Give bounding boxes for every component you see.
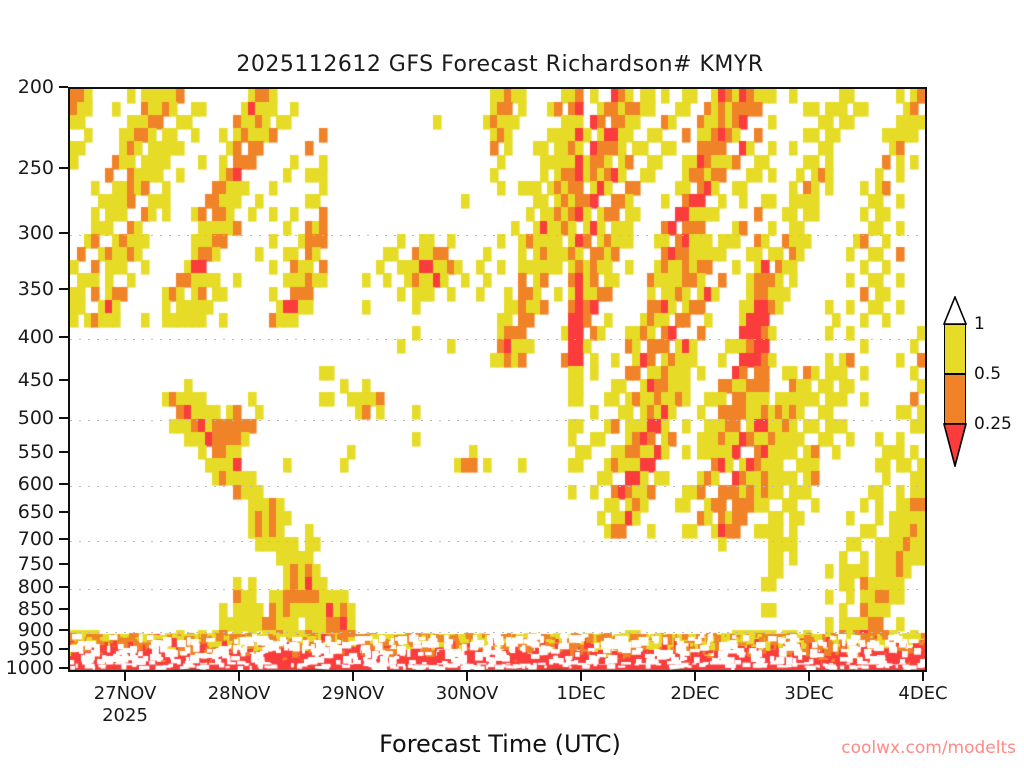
y-tick-label: 550 [18,441,54,463]
y-tick-mark [59,511,68,513]
colorbar-band-1 [944,374,966,424]
y-tick-label: 850 [18,598,54,620]
y-tick-label: 750 [18,553,54,575]
y-tick-mark [59,629,68,631]
y-tick-mark [59,563,68,565]
x-tick-label: 3DEC [784,683,833,704]
x-tick-mark [694,672,696,681]
x-tick-label: 29NOV [322,683,385,704]
x-tick-mark [922,672,924,681]
x-tick-label: 28NOV [208,683,271,704]
plot-area [68,87,927,672]
y-tick-mark [59,288,68,290]
y-tick-mark [59,379,68,381]
x-tick-mark [238,672,240,681]
y-tick-label: 400 [18,326,54,348]
y-tick-label: 200 [18,76,54,98]
page-title: 2025112612 GFS Forecast Richardson# KMYR [0,52,1000,77]
gridline [70,670,925,671]
y-tick-label: 1000 [6,657,54,679]
x-tick-mark [352,672,354,681]
x-tick-label: 4DEC [898,683,947,704]
y-tick-mark [59,167,68,169]
watermark: coolwx.com/modelts [841,738,1016,758]
richardson-heatmap [70,89,925,670]
y-tick-mark [59,667,68,669]
richardson-number-colorbar: 10.50.25 [938,296,972,464]
x-tick-mark [808,672,810,681]
x-tick-mark [466,672,468,681]
x-axis: 27NOV202528NOV29NOV30NOV1DEC2DEC3DEC4DEC [68,672,927,732]
y-tick-mark [59,417,68,419]
y-tick-mark [59,232,68,234]
y-axis: 2002503003504004505005506006507007508008… [0,87,68,672]
colorbar-arrow-bottom-icon [938,423,972,467]
y-tick-label: 700 [18,528,54,550]
y-tick-label: 250 [18,157,54,179]
x-tick-mark [580,672,582,681]
y-tick-mark [59,608,68,610]
y-tick-label: 500 [18,407,54,429]
y-tick-label: 800 [18,576,54,598]
y-tick-label: 600 [18,473,54,495]
colorbar-label-0p25: 0.25 [974,414,1012,434]
colorbar-arrow-top-icon [938,296,972,325]
colorbar-label-1: 1 [974,314,985,334]
colorbar-band-0 [944,324,966,374]
x-tick-label: 2DEC [670,683,719,704]
y-tick-mark [59,586,68,588]
y-tick-label: 650 [18,501,54,523]
x-axis-year-label: 2025 [102,705,148,726]
y-tick-mark [59,451,68,453]
y-tick-label: 300 [18,222,54,244]
x-tick-mark [124,672,126,681]
y-tick-label: 450 [18,369,54,391]
y-tick-mark [59,538,68,540]
x-tick-label: 27NOV [94,683,157,704]
chart-root: 2025112612 GFS Forecast Richardson# KMYR… [0,0,1024,768]
x-tick-label: 1DEC [556,683,605,704]
x-tick-label: 30NOV [436,683,499,704]
colorbar-label-0p5: 0.5 [974,364,1001,384]
y-tick-mark [59,483,68,485]
y-tick-label: 350 [18,278,54,300]
y-tick-mark [59,336,68,338]
y-tick-mark [59,86,68,88]
y-tick-mark [59,648,68,650]
